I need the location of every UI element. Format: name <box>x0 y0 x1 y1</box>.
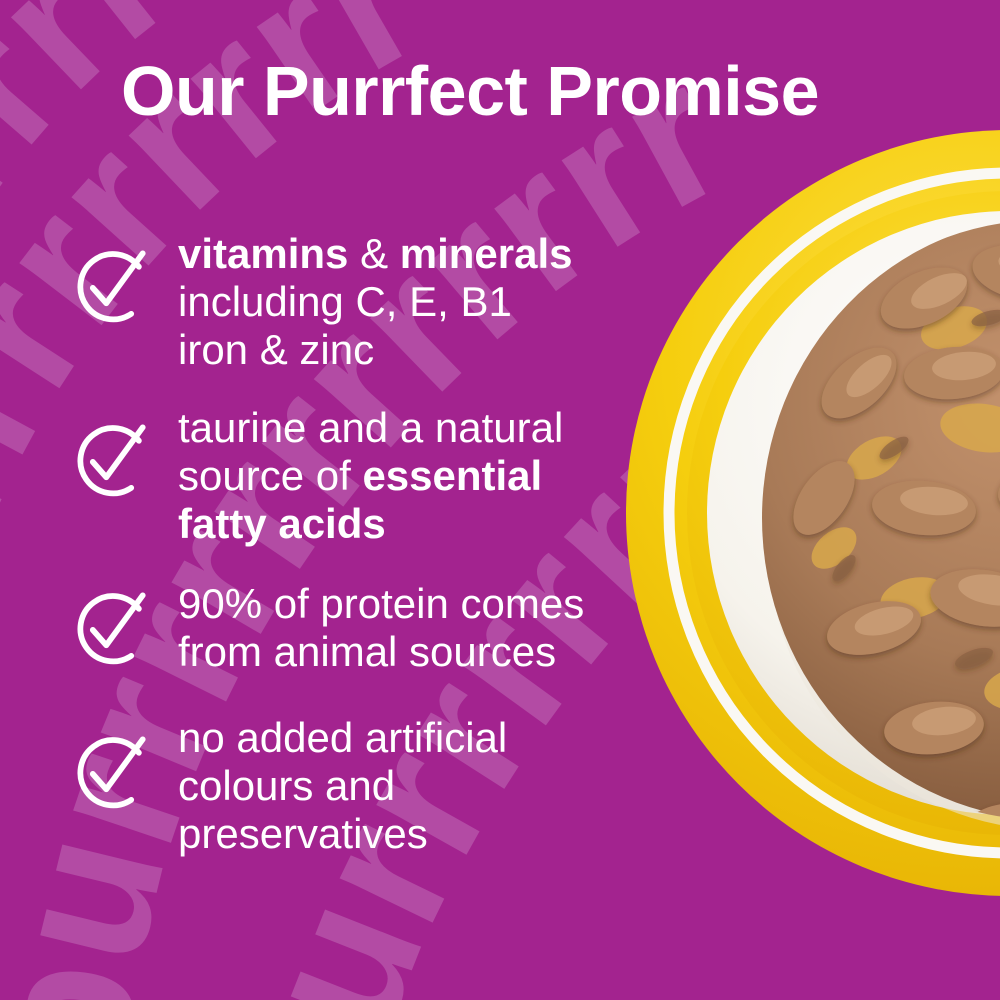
promise-list: vitamins & minerals including C, E, B1 i… <box>64 228 624 858</box>
promise-fragment: including C, E, B1 <box>178 278 512 325</box>
promise-fragment: fatty acids <box>178 500 386 547</box>
promise-fragment: vitamins <box>178 230 348 277</box>
promise-fragment: no added artificial <box>178 714 507 761</box>
promise-fragment: 90% of protein comes <box>178 580 584 627</box>
promise-fragment: source of <box>178 452 362 499</box>
promise-line: no added artificial <box>178 714 624 762</box>
promise-item: no added artificial colours and preserva… <box>64 712 624 858</box>
promise-line: preservatives <box>178 810 624 858</box>
promise-line: colours and <box>178 762 624 810</box>
promise-fragment: taurine and a natural <box>178 404 563 451</box>
promise-text: taurine and a natural source of essentia… <box>160 402 624 548</box>
check-circle-icon <box>64 724 160 820</box>
check-circle-icon <box>64 580 160 676</box>
promise-line: taurine and a natural <box>178 404 624 452</box>
promise-line: vitamins & minerals <box>178 230 624 278</box>
promise-text: 90% of protein comes from animal sources <box>160 578 624 676</box>
promise-fragment: preservatives <box>178 810 428 857</box>
promise-item: vitamins & minerals including C, E, B1 i… <box>64 228 624 374</box>
promise-fragment: & <box>348 230 399 277</box>
promise-item: taurine and a natural source of essentia… <box>64 402 624 548</box>
promise-fragment: colours and <box>178 762 395 809</box>
check-circle-icon <box>64 238 160 334</box>
promise-poster: purrrrrrrrr purrrrrrrrrr purrrrrrrrrrr p… <box>0 0 1000 1000</box>
promise-fragment: essential <box>362 452 542 499</box>
promise-line: 90% of protein comes <box>178 580 624 628</box>
promise-fragment: minerals <box>400 230 573 277</box>
promise-line: iron & zinc <box>178 326 624 374</box>
promise-item: 90% of protein comes from animal sources <box>64 578 624 676</box>
promise-line: source of essential <box>178 452 624 500</box>
promise-fragment: from animal sources <box>178 628 556 675</box>
check-circle-icon <box>64 412 160 508</box>
promise-line: fatty acids <box>178 500 624 548</box>
promise-text: no added artificial colours and preserva… <box>160 712 624 858</box>
promise-line: including C, E, B1 <box>178 278 624 326</box>
bowl-of-cat-food <box>624 128 1000 898</box>
promise-fragment: iron & zinc <box>178 326 374 373</box>
promise-text: vitamins & minerals including C, E, B1 i… <box>160 228 624 374</box>
promise-line: from animal sources <box>178 628 624 676</box>
page-title: Our Purrfect Promise <box>0 56 940 126</box>
